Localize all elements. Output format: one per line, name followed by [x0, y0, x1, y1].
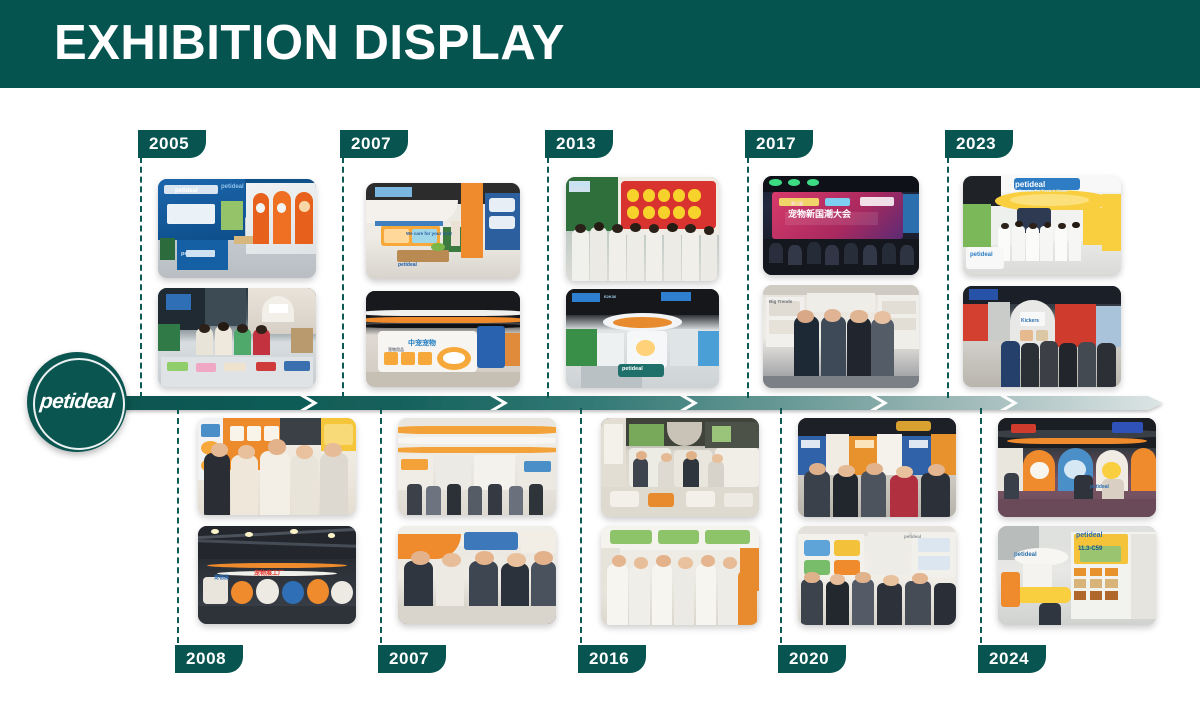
connector-2005: [140, 157, 142, 398]
connector-2024: [980, 408, 982, 643]
photo-orange-ring-booth-2024[interactable]: petideal: [998, 418, 1156, 517]
year-tag-2007-top[interactable]: 2007: [340, 130, 408, 158]
logo-text: petideal: [39, 390, 115, 414]
year-tag-2017[interactable]: 2017: [745, 130, 813, 158]
photo-orange-arch-hall-2007[interactable]: [398, 418, 556, 515]
photo-international-visitors-2017[interactable]: Big Trends: [763, 285, 919, 388]
photo-team-white-jackets-2016[interactable]: [601, 526, 759, 625]
year-tag-2020[interactable]: 2020: [778, 645, 846, 673]
photo-petideal-blue-booth-2005[interactable]: petideal petideal petideal: [158, 179, 316, 278]
photo-five-women-orange-booth-2008[interactable]: [198, 418, 356, 515]
year-tag-2023[interactable]: 2023: [945, 130, 1013, 158]
photo-pet-conference-stage-2017[interactable]: 宠物新国潮大会 第三届: [763, 176, 919, 275]
year-tag-2024[interactable]: 2024: [978, 645, 1046, 673]
connector-2007-top: [342, 157, 344, 398]
photo-green-lounge-booth-2016[interactable]: [601, 418, 759, 517]
year-tag-2007-bottom[interactable]: 2007: [378, 645, 446, 673]
connector-2008: [177, 408, 179, 643]
connector-2017: [747, 157, 749, 398]
connector-2016: [580, 408, 582, 643]
petideal-logo-badge: petideal: [27, 352, 127, 452]
timeline-bar: [118, 396, 1163, 410]
year-tag-2013[interactable]: 2013: [545, 130, 613, 158]
year-tag-2016[interactable]: 2016: [578, 645, 646, 673]
exhibition-display-page: EXHIBITION DISPLAY: [0, 0, 1200, 725]
timeline-chevrons: [300, 396, 1018, 410]
photo-visitors-colorful-shelves-2020[interactable]: [798, 418, 956, 517]
photo-zhongchong-pet-booth-2007[interactable]: 中宠宠物 宠物用品: [366, 291, 520, 387]
photo-arch-booth-crowd-2023[interactable]: Kickers: [963, 286, 1121, 387]
photo-hall-overview-lights-2008[interactable]: 宠物展工厂 宠物展: [198, 526, 356, 624]
photo-petideal-round-booth-2013[interactable]: petideal E2K36: [566, 289, 719, 388]
year-tag-2008[interactable]: 2008: [175, 645, 243, 673]
photo-staff-group-table-2007[interactable]: [398, 526, 556, 624]
photo-booth-counter-guests-2020[interactable]: petideal: [798, 526, 956, 625]
photo-trade-table-visitors-2005[interactable]: [158, 288, 316, 387]
connector-2023: [947, 157, 949, 398]
year-tag-2005[interactable]: 2005: [138, 130, 206, 158]
photo-team-green-wall-2013[interactable]: petideal: [566, 177, 719, 281]
photo-petideal-yellow-booth-team-2023[interactable]: petideal Premium Pet Treats & Chews peti…: [963, 176, 1121, 275]
connector-2007-bottom: [380, 408, 382, 643]
connector-2020: [780, 408, 782, 643]
connector-2013: [547, 157, 549, 398]
photo-petideal-yellow-pillar-2024[interactable]: petideal 11.3-C59 petideal: [998, 526, 1156, 625]
photo-white-orange-booth-2007[interactable]: We care for your best petideal: [366, 183, 520, 279]
page-title: EXHIBITION DISPLAY: [54, 14, 565, 72]
